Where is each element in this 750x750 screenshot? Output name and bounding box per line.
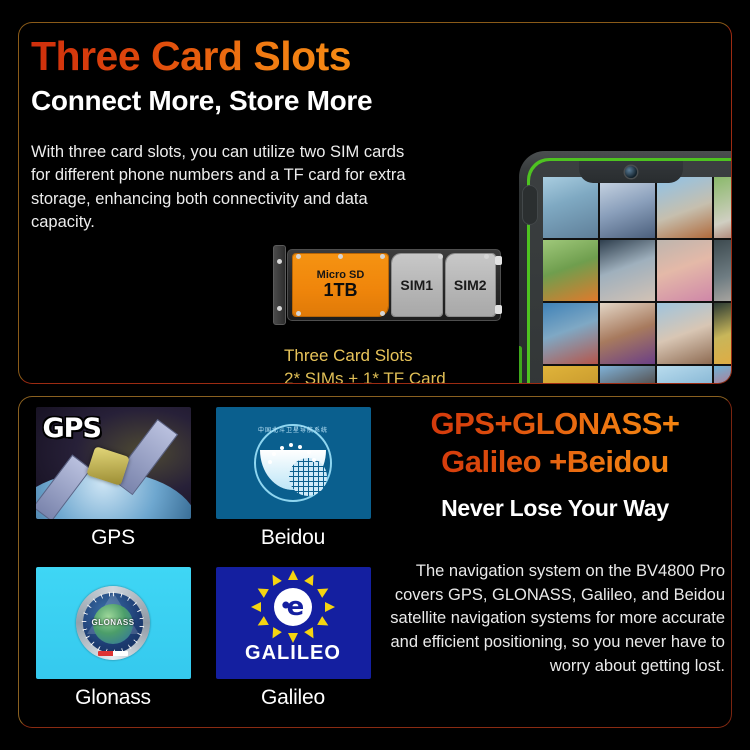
gallery-photo <box>600 303 655 364</box>
glonass-wordmark: GLONASS <box>76 618 150 627</box>
eu-star <box>255 616 269 630</box>
nav-headline-line-1: GPS+GLONASS+ <box>385 405 725 443</box>
phone-image <box>519 151 732 384</box>
glonass-flag-bar <box>98 651 128 656</box>
beidou-globe <box>289 458 327 496</box>
eu-star <box>251 602 261 612</box>
card-slots-panel: Three Card Slots Connect More, Store Mor… <box>18 22 732 384</box>
gallery-photo <box>714 177 732 238</box>
nav-system-glonass: GLONASS Glonass <box>29 567 197 719</box>
tray-body: Micro SD 1TB SIM1 SIM2 <box>287 249 501 321</box>
beidou-logo-icon: 中国北斗卫星导航系统 <box>216 407 371 519</box>
eu-star <box>268 627 282 641</box>
nav-description: The navigation system on the BV4800 Pro … <box>385 560 725 680</box>
beidou-star <box>312 458 316 462</box>
eu-star <box>268 572 282 586</box>
eu-star <box>304 627 318 641</box>
gallery-photo <box>543 177 598 238</box>
photo-gallery-grid <box>543 177 732 384</box>
eu-star <box>304 572 318 586</box>
beidou-star <box>307 450 311 454</box>
beidou-star <box>289 443 293 447</box>
galileo-wordmark: GALILEO <box>216 642 371 665</box>
page-subtitle: Connect More, Store More <box>31 85 372 117</box>
gallery-photo <box>657 366 712 384</box>
front-camera-icon <box>625 166 637 178</box>
gallery-photo <box>714 240 732 301</box>
gallery-photo <box>657 177 712 238</box>
gps-wordmark: GPS <box>43 413 101 444</box>
gps-satellite-icon: GPS <box>36 407 191 519</box>
eu-star <box>325 602 335 612</box>
gallery-photo <box>543 240 598 301</box>
tray-screw <box>296 311 301 316</box>
tray-screw <box>438 254 443 259</box>
nav-systems-grid: GPS GPS 中国北斗卫星导航系统 <box>29 407 377 719</box>
beidou-cn-text: 中国北斗卫星导航系统 <box>254 425 332 434</box>
promo-banner: Three Card Slots Connect More, Store Mor… <box>0 0 750 750</box>
nav-system-gps: GPS GPS <box>29 407 197 559</box>
sim2-card: SIM2 <box>446 254 495 316</box>
eu-star <box>317 584 331 598</box>
phone-side-button <box>519 346 522 384</box>
gallery-photo <box>714 366 732 384</box>
eu-star <box>288 570 298 580</box>
gallery-photo <box>714 303 732 364</box>
galileo-e-glyph: e <box>287 594 305 620</box>
tray-screw <box>380 254 385 259</box>
tray-screw <box>338 254 343 259</box>
navigation-copy: GPS+GLONASS+ Galileo +Beidou Never Lose … <box>385 405 725 679</box>
microsd-capacity: 1TB <box>324 281 358 301</box>
sim1-card: SIM1 <box>392 254 441 316</box>
page-title: Three Card Slots <box>31 33 351 80</box>
eu-star <box>317 616 331 630</box>
eu-star <box>255 584 269 598</box>
microsd-card: Micro SD 1TB <box>293 254 388 316</box>
sim-tray-illustration: Micro SD 1TB SIM1 SIM2 <box>269 245 509 335</box>
tray-screw <box>296 254 301 259</box>
gallery-photo <box>657 303 712 364</box>
phone-grip-left <box>522 185 538 225</box>
tray-clip-bottom <box>495 305 502 314</box>
nav-system-label: GPS <box>91 526 135 550</box>
beidou-star <box>272 452 276 456</box>
tray-ear <box>273 245 286 325</box>
gallery-photo <box>543 366 598 384</box>
gallery-photo <box>657 240 712 301</box>
nav-headline-line-2: Galileo +Beidou <box>385 443 725 481</box>
tray-screw <box>380 311 385 316</box>
beidou-star <box>268 460 272 464</box>
beidou-emblem: 中国北斗卫星导航系统 <box>254 424 332 502</box>
tray-screw <box>484 254 489 259</box>
nav-system-beidou: 中国北斗卫星导航系统 Beidou <box>209 407 377 559</box>
glonass-emblem: GLONASS <box>76 586 150 660</box>
nav-system-label: Beidou <box>261 526 325 550</box>
beidou-star <box>280 446 284 450</box>
tray-clip-top <box>495 256 502 265</box>
navigation-panel: GPS GPS 中国北斗卫星导航系统 <box>18 396 732 728</box>
card-slots-description: With three card slots, you can utilize t… <box>31 141 421 235</box>
glonass-emblem-icon: GLONASS <box>36 567 191 679</box>
nav-system-label: Glonass <box>75 686 151 710</box>
beidou-star <box>298 445 302 449</box>
gallery-photo <box>600 240 655 301</box>
nav-system-label: Galileo <box>261 686 325 710</box>
gallery-photo <box>600 177 655 238</box>
nav-system-galileo: e GALILEO Galileo <box>209 567 377 719</box>
nav-subheadline: Never Lose Your Way <box>385 495 725 522</box>
galileo-dot <box>282 602 289 609</box>
galileo-logo-icon: e GALILEO <box>216 567 371 679</box>
gallery-photo <box>600 366 655 384</box>
gallery-photo <box>543 303 598 364</box>
